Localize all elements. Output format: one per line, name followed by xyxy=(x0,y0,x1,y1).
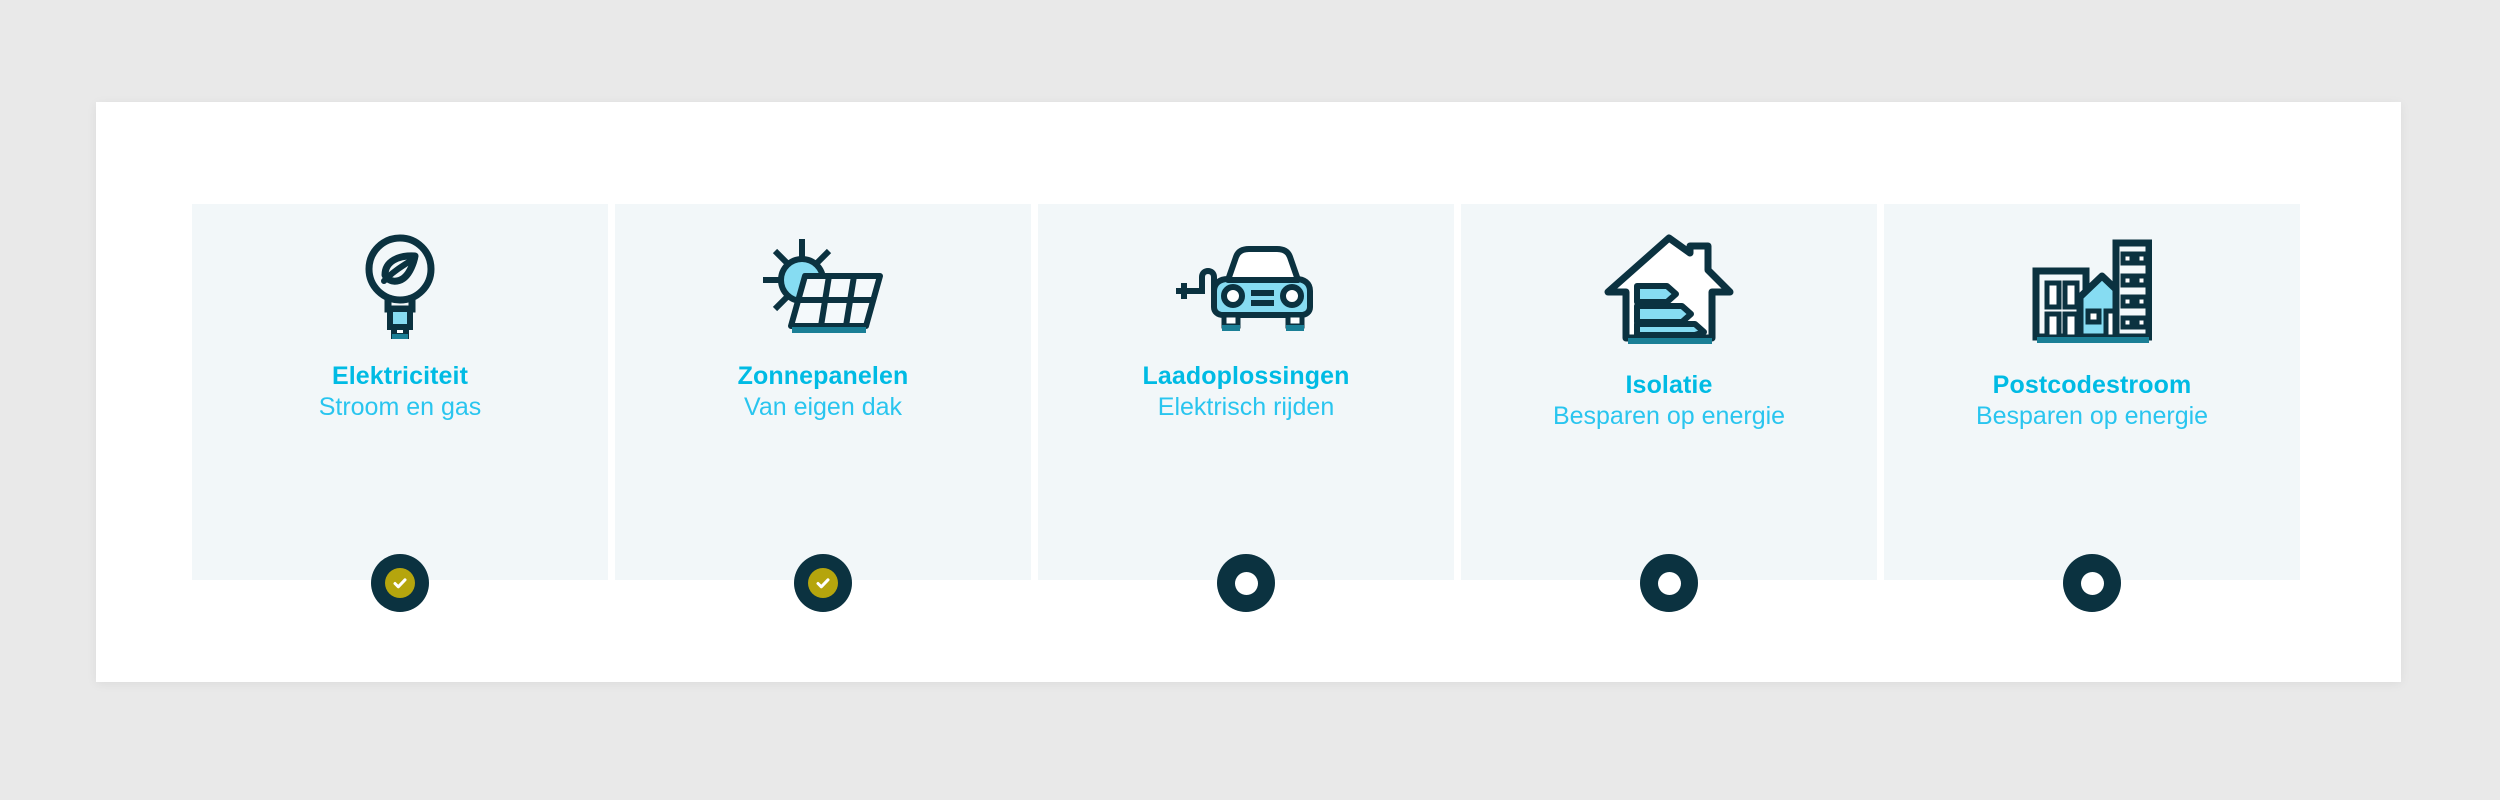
card-labels: Elektriciteit Stroom en gas xyxy=(192,362,608,425)
card-labels: Laadoplossingen Elektrisch rijden xyxy=(1038,362,1454,425)
toggle-fill xyxy=(808,568,838,598)
card-labels: Zonnepanelen Van eigen dak xyxy=(615,362,1031,425)
toggle-laadoplossingen[interactable] xyxy=(1217,554,1275,612)
product-card-isolatie[interactable]: Isolatie Besparen op energie xyxy=(1461,204,1877,580)
solar-panel-sun-icon xyxy=(762,210,884,362)
product-card-elektriciteit[interactable]: Elektriciteit Stroom en gas xyxy=(192,204,608,580)
screen: Elektriciteit Stroom en gas xyxy=(0,0,2500,800)
card-title: Zonnepanelen xyxy=(615,362,1031,391)
check-icon xyxy=(392,575,408,591)
card-title: Isolatie xyxy=(1461,371,1877,400)
card-title: Postcodestroom xyxy=(1884,371,2300,400)
card-subtitle: Besparen op energie xyxy=(1884,400,2300,434)
neighbourhood-buildings-icon xyxy=(2032,214,2152,366)
product-selector-row: Elektriciteit Stroom en gas xyxy=(192,204,2300,580)
toggle-postcodestroom[interactable] xyxy=(2063,554,2121,612)
toggle-fill xyxy=(1235,572,1258,595)
check-icon xyxy=(815,575,831,591)
toggle-zonnepanelen[interactable] xyxy=(794,554,852,612)
card-subtitle: Besparen op energie xyxy=(1461,400,1877,434)
card-subtitle: Stroom en gas xyxy=(192,391,608,425)
card-title: Laadoplossingen xyxy=(1038,362,1454,391)
card-subtitle: Elektrisch rijden xyxy=(1038,391,1454,425)
toggle-isolatie[interactable] xyxy=(1640,554,1698,612)
toggle-elektriciteit[interactable] xyxy=(371,554,429,612)
card-title: Elektriciteit xyxy=(192,362,608,391)
eco-lightbulb-icon xyxy=(359,210,441,362)
electric-car-charging-icon xyxy=(1170,210,1322,362)
product-card-zonnepanelen[interactable]: Zonnepanelen Van eigen dak xyxy=(615,204,1031,580)
house-insulation-icon xyxy=(1604,214,1734,366)
toggle-fill xyxy=(2081,572,2104,595)
product-card-laadoplossingen[interactable]: Laadoplossingen Elektrisch rijden xyxy=(1038,204,1454,580)
card-labels: Postcodestroom Besparen op energie xyxy=(1884,371,2300,434)
toggle-fill xyxy=(1658,572,1681,595)
card-subtitle: Van eigen dak xyxy=(615,391,1031,425)
product-card-postcodestroom[interactable]: Postcodestroom Besparen op energie xyxy=(1884,204,2300,580)
toggle-fill xyxy=(385,568,415,598)
card-labels: Isolatie Besparen op energie xyxy=(1461,371,1877,434)
